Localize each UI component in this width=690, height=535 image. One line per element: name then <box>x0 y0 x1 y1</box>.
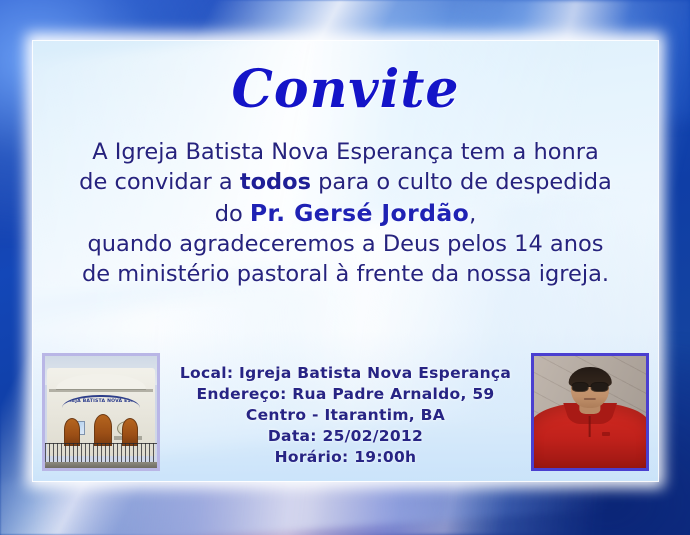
page-title: Convite <box>33 59 658 120</box>
church-sign: IGREJA BATISTA NOVA ESPERANÇA <box>62 395 139 408</box>
body-line-4-text: quando agradeceremos a Deus pelos 14 ano… <box>88 231 604 257</box>
body-line-5: de ministério pastoral à frente da nossa… <box>33 259 658 289</box>
body-line-2-prefix: de convidar a <box>79 169 240 195</box>
church-ground <box>45 462 157 468</box>
pastor-name: Pr. Gersé Jordão <box>250 199 469 227</box>
pastor-photo <box>531 353 649 471</box>
body-line-3-suffix: , <box>469 201 476 227</box>
invitation-card: Convite A Igreja Batista Nova Esperança … <box>33 41 658 481</box>
body-line-2-suffix: para o culto de despedida <box>311 169 612 195</box>
sunglasses-icon <box>573 383 608 391</box>
portrait-shirt-logo <box>602 432 610 436</box>
body-line-1-text: A Igreja Batista Nova Esperança tem a ho… <box>92 139 599 165</box>
sunglasses-lens-right <box>592 383 607 391</box>
body-line-4: quando agradeceremos a Deus pelos 14 ano… <box>33 229 658 259</box>
sunglasses-lens-left <box>573 383 588 391</box>
portrait-shirt-placket <box>589 416 591 437</box>
body-line-3-prefix: do <box>215 201 250 227</box>
church-fence <box>45 443 157 464</box>
church-photo: IGREJA BATISTA NOVA ESPERANÇA <box>42 353 160 471</box>
invitation-flyer: Convite A Igreja Batista Nova Esperança … <box>0 0 690 535</box>
body-line-3: do Pr. Gersé Jordão, <box>33 198 658 229</box>
church-gable <box>56 374 146 390</box>
body-line-1: A Igreja Batista Nova Esperança tem a ho… <box>33 137 658 167</box>
body-line-5-text: de ministério pastoral à frente da nossa… <box>82 261 609 287</box>
church-door-center <box>94 414 112 446</box>
emphasis-todos: todos <box>240 169 311 195</box>
invitation-body: A Igreja Batista Nova Esperança tem a ho… <box>33 137 658 289</box>
body-line-2: de convidar a todos para o culto de desp… <box>33 167 658 197</box>
church-cornice <box>49 389 152 392</box>
portrait-mouth <box>584 398 596 400</box>
